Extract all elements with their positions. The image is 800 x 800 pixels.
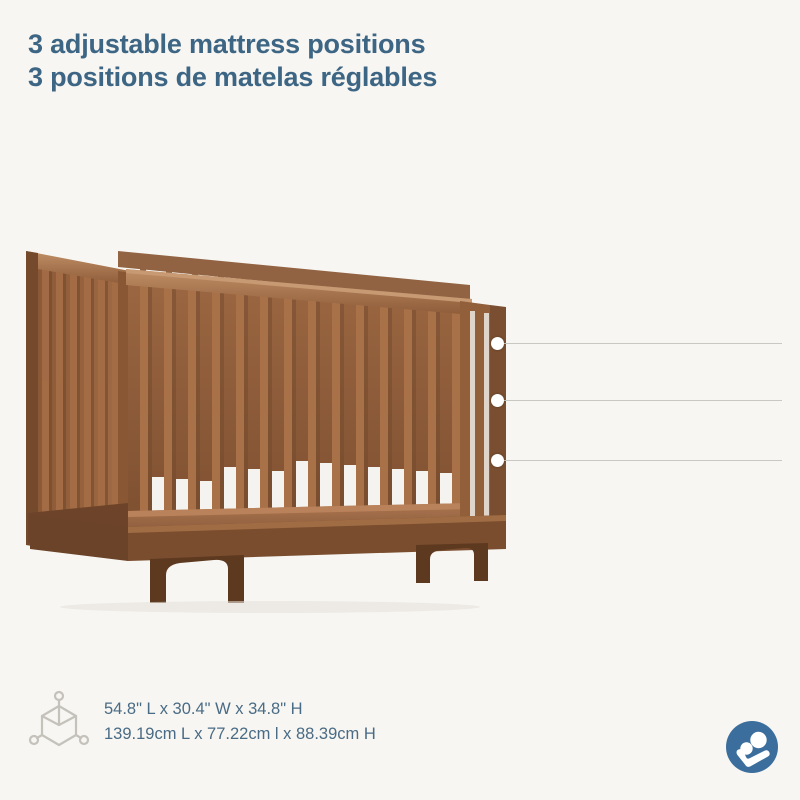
page-title: 3 adjustable mattress positions 3 positi… [28,28,588,94]
callout-dot-newborn[interactable] [491,337,504,350]
crib-end-post-right [460,301,506,529]
cube-dimensions-icon [28,688,90,754]
callout-leader-line-rolling-over [503,400,782,401]
callout-leader-line-standing [503,460,782,461]
dimensions-block: 54.8" L x 30.4" W x 34.8" H 139.19cm L x… [28,688,376,754]
dimensions-metric: 139.19cm L x 77.22cm l x 88.39cm H [104,723,376,745]
dimensions-imperial: 54.8" L x 30.4" W x 34.8" H [104,698,376,720]
infographic-canvas: 3 adjustable mattress positions 3 positi… [0,0,800,800]
callout-dot-rolling-over[interactable] [491,394,504,407]
title-line-french: 3 positions de matelas réglables [28,61,588,94]
callout-leader-line-newborn [503,343,782,344]
callout-dot-standing[interactable] [491,454,504,467]
product-image-crib [0,215,560,615]
crib-end-panel-left [26,251,132,547]
babyletto-parent-child-logo [724,719,780,775]
title-line-english: 3 adjustable mattress positions [28,28,588,61]
dimensions-text: 54.8" L x 30.4" W x 34.8" H 139.19cm L x… [104,698,376,745]
